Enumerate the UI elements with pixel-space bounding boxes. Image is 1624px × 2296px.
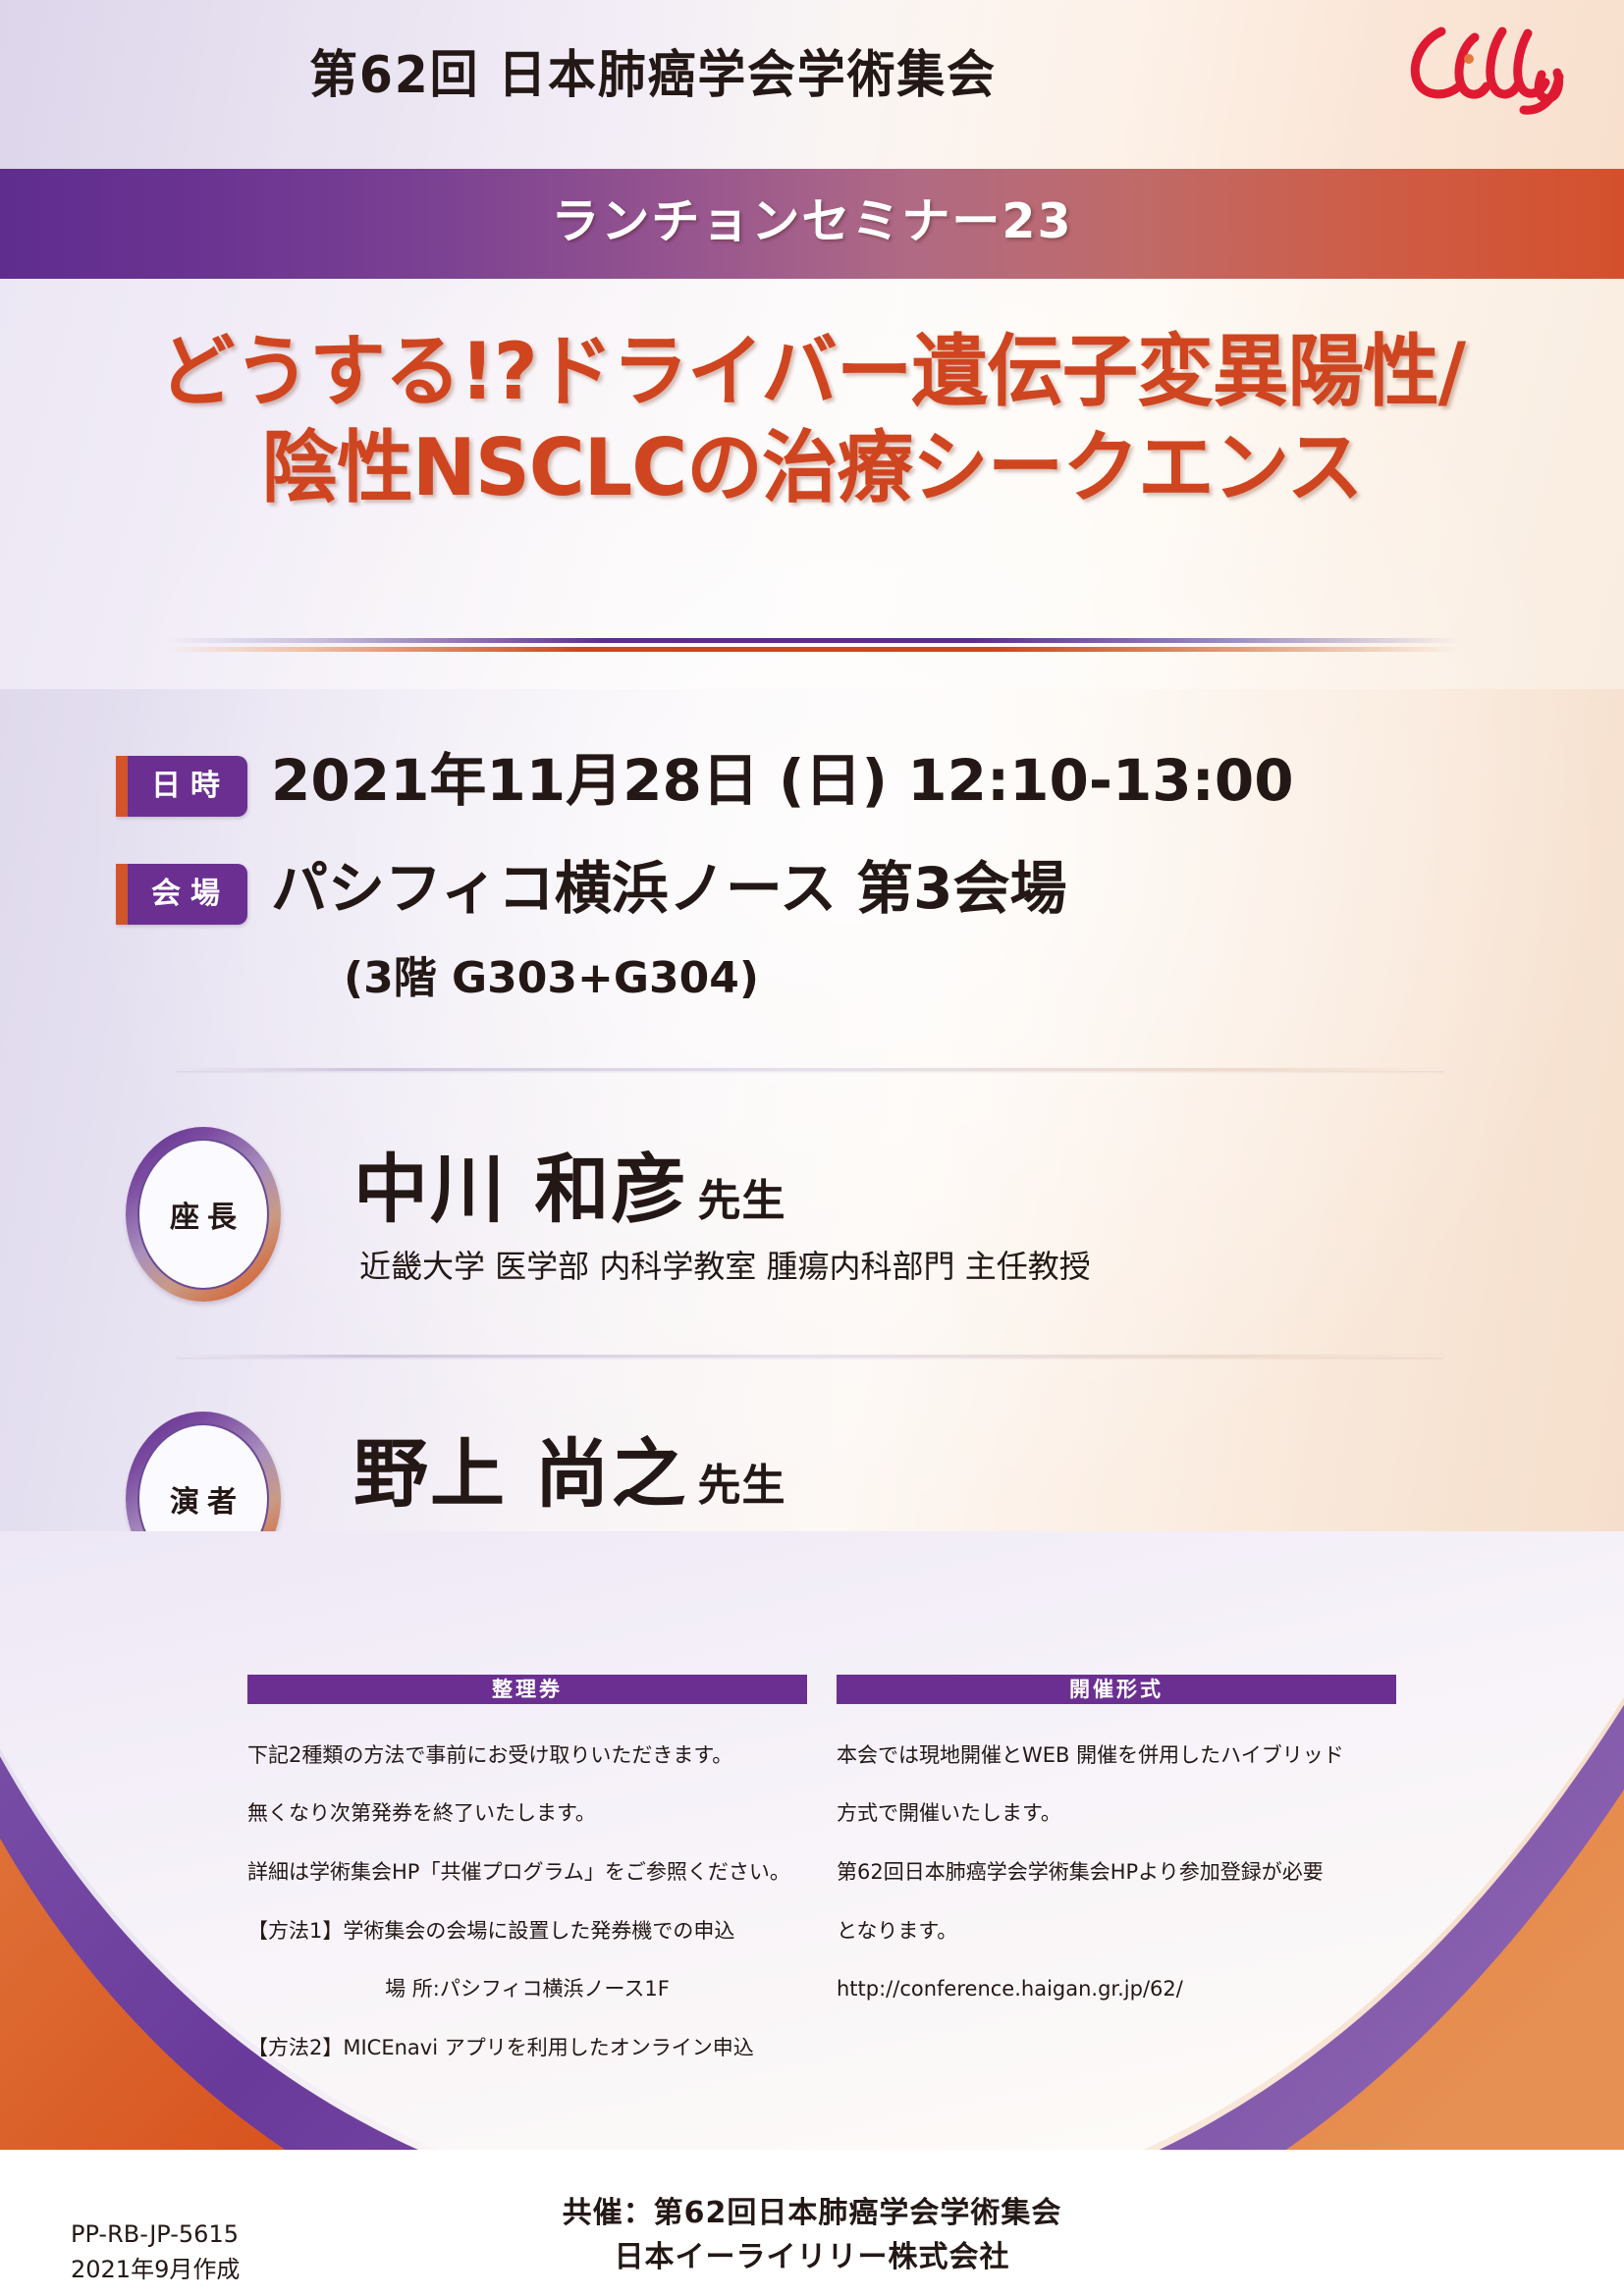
ticket-line-5: 場 所:パシフィコ横浜ノース1F xyxy=(247,1975,807,2004)
chair-affiliation: 近畿大学 医学部 内科学教室 腫瘍内科部門 主任教授 xyxy=(359,1242,1091,1287)
datetime-row: 日時 2021年11月28日 (日) 12:10-13:00 xyxy=(116,756,1294,817)
presenter-name: 野上 尚之先生 xyxy=(353,1414,785,1522)
seminar-band-label: ランチョンセミナー23 xyxy=(0,183,1624,252)
format-line-3: 第62回日本肺癌学会学術集会HPより参加登録が必要 xyxy=(837,1858,1396,1888)
cosponsor-block: 共催：第62回日本肺癌学会学術集会 日本イーライリリー株式会社 xyxy=(0,2191,1624,2279)
ticket-box-body: 下記2種類の方法で事前にお受け取りいただきます。 無くなり次第発券を終了いたしま… xyxy=(247,1712,807,2093)
format-box-heading: 開催形式 xyxy=(837,1675,1396,1704)
format-info-box: 開催形式 本会では現地開催とWEB 開催を併用したハイブリッド 方式で開催いたし… xyxy=(837,1675,1396,2034)
datetime-value: 2021年11月28日 (日) 12:10-13:00 xyxy=(271,752,1294,809)
format-box-body: 本会では現地開催とWEB 開催を併用したハイブリッド 方式で開催いたします。 第… xyxy=(837,1712,1396,2034)
presenter-name-text: 野上 尚之 xyxy=(353,1430,687,1518)
format-line-4: となります。 xyxy=(837,1917,1396,1947)
format-line-1: 本会では現地開催とWEB 開催を併用したハイブリッド xyxy=(837,1741,1396,1771)
conference-title: 第62回 日本肺癌学会学術集会 xyxy=(39,33,1267,107)
chair-role-badge: 座長 xyxy=(126,1127,281,1302)
ticket-box-heading: 整理券 xyxy=(247,1675,807,1704)
ticket-line-6: 【方法2】MICEnavi アプリを利用したオンライン申込 xyxy=(247,2034,807,2063)
ticket-line-4: 【方法1】学術集会の会場に設置した発券機での申込 xyxy=(247,1917,807,1947)
section-separator-2 xyxy=(177,1355,1443,1358)
chair-honorific: 先生 xyxy=(697,1176,785,1226)
ticket-line-1: 下記2種類の方法で事前にお受け取りいただきます。 xyxy=(247,1741,807,1771)
seminar-poster: 第62回 日本肺癌学会学術集会 ランチョンセミナー23 どうする!?ドライバー遺… xyxy=(0,0,1624,2296)
title-line-2: 陰性NSCLCの治療シークエンス xyxy=(25,420,1599,516)
format-line-2: 方式で開催いたします。 xyxy=(837,1799,1396,1829)
conference-url[interactable]: http://conference.haigan.gr.jp/62/ xyxy=(837,1975,1396,2004)
title-divider xyxy=(167,638,1459,652)
chair-name: 中川 和彦先生 xyxy=(353,1129,785,1237)
venue-subvalue: (3階 G303+G304) xyxy=(344,942,759,1005)
chair-role-label: 座長 xyxy=(137,1139,269,1290)
venue-row: 会場 パシフィコ横浜ノース 第3会場 xyxy=(116,864,1067,925)
ticket-line-2: 無くなり次第発券を終了いたします。 xyxy=(247,1799,807,1829)
page-title: どうする!?ドライバー遺伝子変異陽性/ 陰性NSCLCの治療シークエンス xyxy=(0,324,1624,515)
divider-purple-line xyxy=(167,638,1459,643)
title-line-1: どうする!?ドライバー遺伝子変異陽性/ xyxy=(25,324,1599,420)
venue-value: パシフィコ横浜ノース 第3会場 xyxy=(271,860,1067,917)
divider-orange-line xyxy=(167,647,1459,652)
lilly-logo-icon xyxy=(1398,16,1565,120)
section-separator-1 xyxy=(177,1068,1443,1071)
presenter-honorific: 先生 xyxy=(697,1461,785,1511)
venue-tag: 会場 xyxy=(116,864,247,925)
datetime-tag: 日時 xyxy=(116,756,247,817)
ticket-info-box: 整理券 下記2種類の方法で事前にお受け取りいただきます。 無くなり次第発券を終了… xyxy=(247,1675,807,2093)
cosponsor-line-2: 日本イーライリリー株式会社 xyxy=(0,2235,1624,2279)
cosponsor-line-1: 共催：第62回日本肺癌学会学術集会 xyxy=(0,2191,1624,2235)
ticket-line-3: 詳細は学術集会HP「共催プログラム」をご参照ください。 xyxy=(247,1858,807,1888)
chair-name-text: 中川 和彦 xyxy=(353,1146,687,1233)
